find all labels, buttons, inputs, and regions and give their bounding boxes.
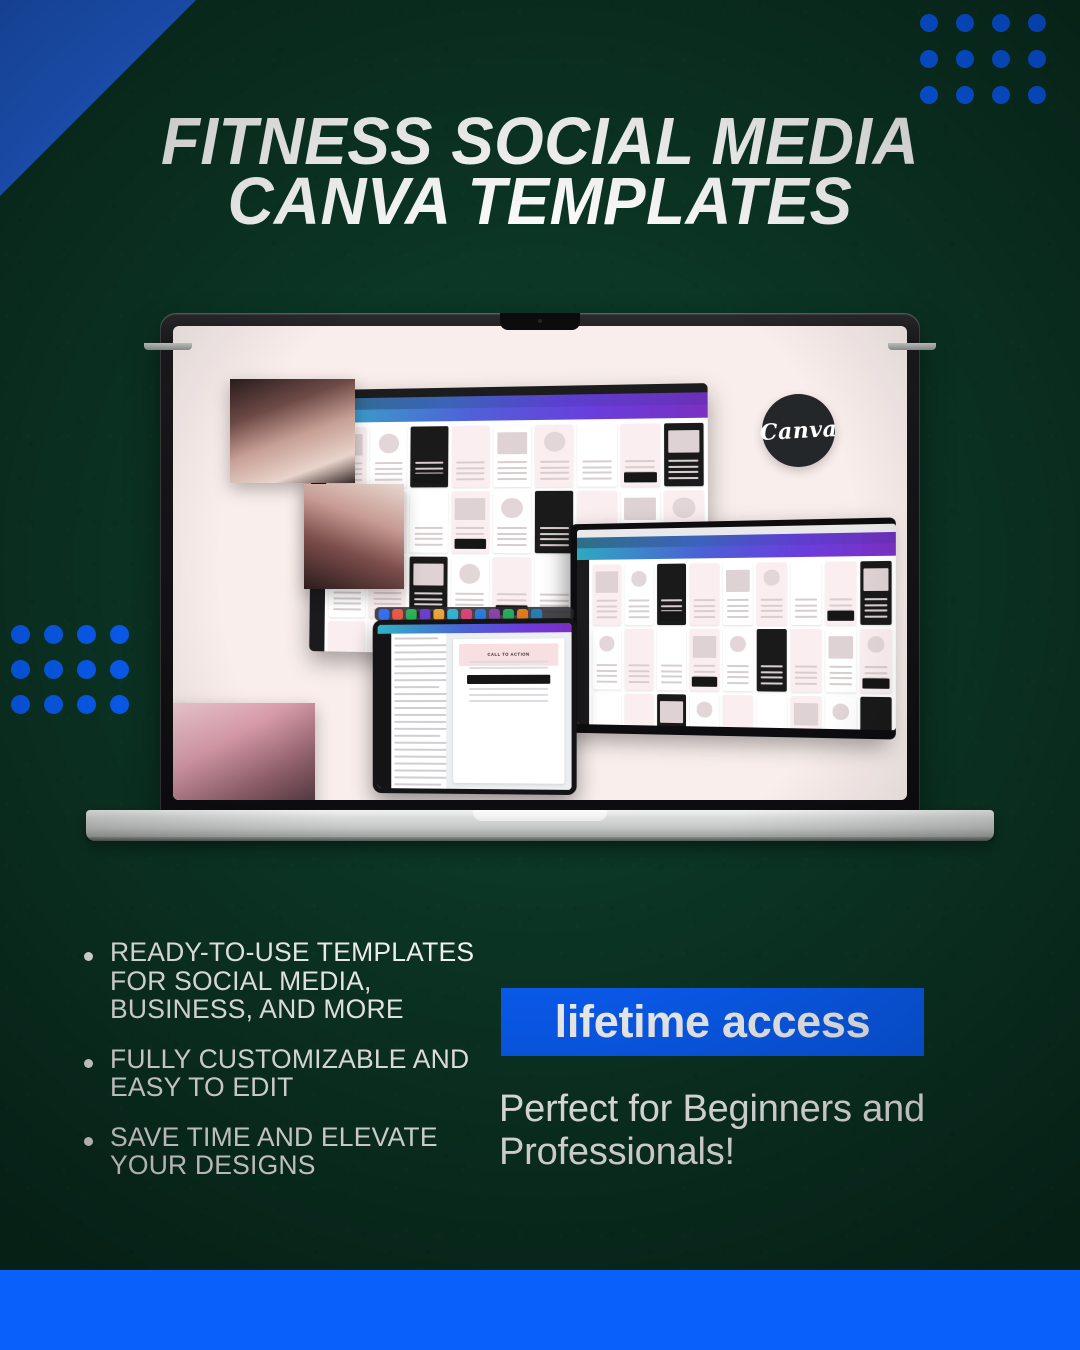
template-card	[690, 695, 719, 731]
laptop-base	[86, 810, 994, 841]
card-photo-circle	[631, 571, 647, 586]
dock-app-icon	[392, 609, 403, 620]
dock-app-icon	[447, 609, 458, 620]
template-card	[791, 629, 821, 692]
template-card	[410, 491, 448, 552]
card-text-line	[455, 598, 484, 600]
font-list-row	[394, 762, 447, 764]
card-text-line	[540, 544, 569, 546]
card-button	[863, 679, 889, 690]
decor-dot	[992, 86, 1010, 104]
dock-app-icon	[406, 609, 417, 620]
card-photo-circle	[730, 636, 747, 652]
card-text-line	[760, 682, 783, 684]
card-text-line	[628, 610, 650, 612]
decor-dot	[11, 625, 30, 644]
card-text-line	[864, 604, 888, 606]
card-text-line	[497, 527, 526, 529]
decor-dot	[956, 50, 974, 68]
card-text-line	[497, 599, 526, 601]
template-card	[370, 427, 407, 488]
template-card	[791, 696, 821, 730]
card-text-line	[596, 600, 617, 602]
card-text-line	[582, 477, 612, 479]
tablet-body: CALL TO ACTION	[378, 632, 572, 790]
template-card	[860, 561, 891, 625]
decor-dot	[11, 660, 30, 679]
template-card	[593, 629, 621, 690]
card-photo-circle	[673, 498, 695, 518]
card-photo-circle	[599, 636, 615, 651]
font-list-row	[394, 783, 441, 785]
card-text-line	[333, 597, 361, 599]
template-card	[825, 561, 856, 625]
template-card	[657, 694, 686, 730]
card-text-line	[794, 671, 817, 673]
card-text-line	[829, 666, 852, 668]
card-text-line	[727, 682, 750, 684]
card-text-line	[693, 610, 715, 612]
card-text-line	[864, 610, 888, 612]
card-text-line	[540, 472, 569, 474]
card-text-line	[829, 683, 852, 685]
card-text-line	[794, 610, 817, 612]
card-text-line	[727, 610, 750, 612]
dock-app-icon	[379, 609, 390, 620]
card-text-line	[596, 680, 617, 682]
bullet-dot-icon	[84, 952, 93, 961]
card-text-line	[661, 605, 683, 607]
card-text-line	[498, 467, 527, 469]
laptop-foot-right	[888, 343, 936, 350]
decor-dot	[956, 86, 974, 104]
poster-canvas: FITNESS SOCIAL MEDIA CANVA TEMPLATES	[0, 0, 1080, 1350]
mockup-flyer-service-guide: VICE A NG GU siness Name H Lorem ipsum d…	[173, 703, 315, 800]
bottom-accent-bar	[0, 1270, 1080, 1350]
card-text-line	[456, 527, 485, 529]
card-photo	[660, 701, 683, 722]
template-card	[657, 629, 686, 690]
card-text-line	[864, 672, 888, 674]
card-text-line	[760, 599, 783, 601]
card-text-line	[727, 604, 750, 606]
template-card	[625, 629, 654, 690]
laptop-foot-left	[144, 343, 192, 350]
dock-app-icon	[420, 609, 431, 620]
template-card	[593, 693, 621, 730]
card-text-line	[794, 604, 817, 606]
canva-sidebar-rail-2	[577, 560, 589, 724]
card-photo	[624, 498, 656, 519]
card-text-line	[582, 472, 612, 474]
card-text-line	[596, 611, 617, 613]
card-text-line	[628, 675, 650, 677]
card-button	[414, 474, 445, 484]
dock-app-icon	[433, 609, 444, 620]
card-text-line	[727, 676, 750, 678]
card-text-line	[760, 676, 783, 678]
card-photo-circle	[459, 564, 480, 584]
card-text-line	[727, 665, 750, 667]
card-button	[828, 611, 854, 621]
card-text-line	[373, 603, 401, 605]
card-text-line	[333, 602, 361, 604]
card-text-line	[540, 533, 569, 535]
template-card	[657, 564, 686, 626]
card-photo	[668, 430, 700, 452]
template-card	[578, 424, 617, 487]
laptop-window-body	[577, 556, 896, 731]
card-text-line	[596, 605, 617, 607]
template-card	[328, 621, 365, 659]
card-text-line	[760, 610, 783, 612]
decor-dot	[44, 660, 63, 679]
template-card	[825, 629, 856, 693]
tablet-sidebar-rail	[378, 634, 392, 789]
card-text-line	[456, 478, 485, 480]
card-text-line	[864, 598, 888, 600]
flyer-photo	[173, 703, 315, 800]
card-photo-circle	[544, 432, 566, 452]
font-list-row	[394, 665, 445, 667]
lifetime-access-label: lifetime access	[555, 996, 871, 1048]
lifetime-access-badge: lifetime access	[501, 988, 924, 1056]
card-photo-circle	[763, 570, 780, 586]
bullet-dot-icon	[84, 1059, 93, 1068]
card-text-line	[373, 592, 401, 594]
card-button	[454, 539, 486, 549]
feature-list-item-label: READY-TO-USE TEMPLATES FOR SOCIAL MEDIA,…	[110, 938, 504, 1024]
template-card	[825, 696, 856, 730]
card-text-line	[628, 681, 650, 683]
card-text-line	[628, 616, 650, 618]
decor-dot	[44, 695, 63, 714]
template-card	[664, 423, 704, 487]
card-text-line	[628, 729, 650, 730]
laptop-mockup: VICE A NG GU siness Name H Lorem ipsum d…	[86, 313, 994, 858]
font-list-row	[394, 742, 453, 744]
design-line-2	[469, 667, 548, 669]
decor-dot	[920, 50, 938, 68]
tablet-screen: CALL TO ACTION	[378, 623, 572, 790]
decor-dot	[11, 695, 30, 714]
template-card	[535, 491, 574, 554]
card-photo	[828, 637, 853, 659]
dot-grid-top-right	[920, 14, 1064, 122]
page-title: FITNESS SOCIAL MEDIA CANVA TEMPLATES	[27, 112, 1053, 232]
card-photo	[693, 636, 716, 657]
card-text-line	[794, 615, 817, 617]
card-text-line	[582, 466, 612, 468]
card-text-line	[669, 460, 699, 462]
template-card	[451, 491, 489, 553]
card-photo	[863, 569, 888, 591]
card-text-line	[415, 462, 443, 464]
card-text-line	[332, 656, 360, 658]
card-photo	[455, 499, 485, 520]
card-photo-circle	[867, 637, 885, 653]
design-title: CALL TO ACTION	[459, 651, 558, 657]
card-text-line	[760, 616, 783, 618]
font-list-row	[394, 735, 440, 737]
card-text-line	[794, 677, 817, 679]
template-card	[625, 564, 654, 625]
template-card	[535, 425, 574, 487]
font-list-row	[394, 637, 438, 639]
card-text-line	[693, 605, 715, 607]
card-text-line	[414, 603, 442, 605]
card-photo	[596, 572, 619, 593]
feature-list-item-label: FULLY CUSTOMIZABLE AND EASY TO EDIT	[110, 1045, 504, 1102]
laptop-screen: VICE A NG GU siness Name H Lorem ipsum d…	[173, 326, 907, 800]
font-list-row	[394, 686, 439, 688]
card-text-line	[628, 599, 650, 601]
card-text-line	[497, 538, 526, 540]
decor-dot	[1028, 86, 1046, 104]
template-card	[452, 426, 490, 488]
template-card	[620, 423, 659, 486]
card-text-line	[540, 461, 569, 463]
card-text-line	[498, 478, 527, 480]
offer-tagline: Perfect for Beginners and Professionals!	[499, 1088, 969, 1174]
card-text-line	[333, 591, 361, 593]
design-line-3	[469, 688, 548, 690]
card-text-line	[415, 532, 443, 534]
feature-list-item-label: SAVE TIME AND ELEVATE YOUR DESIGNS	[110, 1123, 504, 1180]
template-card	[690, 629, 719, 691]
card-photo	[794, 703, 818, 725]
card-text-line	[661, 730, 683, 731]
decor-dot	[956, 14, 974, 32]
template-card	[791, 562, 821, 625]
card-photo	[497, 433, 527, 454]
card-text-line	[693, 670, 715, 672]
card-text-line	[596, 669, 617, 671]
laptop-window-inner	[577, 524, 896, 731]
title-line-1: FITNESS SOCIAL MEDIA	[27, 112, 1053, 172]
card-text-line	[455, 604, 484, 606]
font-list-row	[394, 693, 452, 695]
dock-app-icon	[461, 609, 472, 620]
card-photo-circle	[501, 498, 522, 518]
laptop-lid: VICE A NG GU siness Name H Lorem ipsum d…	[160, 313, 920, 813]
card-text-line	[373, 597, 401, 599]
card-text-line	[375, 467, 403, 469]
card-photo	[414, 564, 444, 585]
card-button	[624, 472, 657, 482]
mockup-tablet: CALL TO ACTION	[373, 618, 577, 795]
card-text-line	[829, 677, 852, 679]
template-card	[593, 564, 621, 625]
design-line-1	[469, 661, 548, 663]
card-text-line	[661, 675, 683, 677]
card-text-line	[864, 615, 888, 617]
mockup-photo-2	[304, 484, 404, 589]
template-card	[723, 629, 753, 691]
card-text-line	[596, 664, 617, 666]
tablet-design-page: CALL TO ACTION	[453, 638, 564, 784]
card-text-line	[794, 665, 817, 667]
card-text-line	[628, 664, 650, 666]
card-text-line	[760, 604, 783, 606]
card-text-line	[375, 462, 403, 464]
canva-logo-badge: Canva	[762, 394, 835, 467]
card-text-line	[864, 666, 888, 668]
card-text-line	[333, 608, 361, 610]
card-text-line	[661, 670, 683, 672]
feature-list: READY-TO-USE TEMPLATES FOR SOCIAL MEDIA,…	[84, 938, 504, 1201]
card-text-line	[539, 593, 568, 595]
decor-dot	[44, 625, 63, 644]
tablet-canvas: CALL TO ACTION	[446, 632, 571, 790]
card-text-line	[414, 592, 442, 594]
card-text-line	[539, 599, 568, 601]
card-text-line	[415, 467, 443, 469]
template-card	[690, 563, 719, 625]
bullet-dot-icon	[84, 1137, 93, 1146]
decor-dot	[920, 86, 938, 104]
template-card	[723, 695, 753, 730]
card-text-line	[540, 466, 569, 468]
card-text-line	[456, 461, 485, 463]
card-text-line	[498, 472, 527, 474]
mockup-laptop-window	[571, 517, 896, 739]
card-text-line	[669, 477, 699, 479]
card-text-line	[497, 533, 526, 535]
card-text-line	[456, 467, 485, 469]
card-text-line	[375, 473, 403, 475]
card-text-line	[727, 616, 750, 618]
card-text-line	[415, 527, 443, 529]
template-card	[723, 563, 753, 625]
card-photo-circle	[696, 702, 712, 718]
card-text-line	[497, 544, 526, 546]
card-text-line	[625, 466, 655, 468]
decor-dot	[920, 14, 938, 32]
card-text-line	[829, 598, 852, 600]
card-text-line	[661, 599, 683, 601]
laptop-notch	[500, 313, 580, 330]
design-line-4	[469, 694, 548, 696]
font-list-panel	[391, 633, 446, 789]
card-text-line	[540, 527, 569, 529]
template-card	[757, 562, 787, 625]
mockup-photo-1	[230, 379, 355, 483]
card-text-line	[829, 604, 852, 606]
template-card	[493, 425, 531, 487]
font-list-row	[394, 644, 451, 646]
card-photo-circle	[378, 434, 399, 454]
template-card	[625, 694, 654, 731]
decor-dot	[992, 50, 1010, 68]
design-cta-button	[467, 675, 550, 684]
card-text-line	[374, 478, 402, 480]
design-line-5	[469, 700, 548, 702]
dock-app-icon	[475, 608, 486, 619]
feature-list-item: SAVE TIME AND ELEVATE YOUR DESIGNS	[84, 1123, 504, 1180]
card-button	[692, 677, 717, 687]
card-photo	[726, 570, 750, 591]
card-text-line	[693, 599, 715, 601]
card-text-line	[456, 532, 485, 534]
card-text-line	[540, 538, 569, 540]
card-text-line	[794, 682, 817, 684]
card-text-line	[415, 543, 443, 545]
card-text-line	[669, 471, 699, 473]
title-line-2: CANVA TEMPLATES	[27, 172, 1053, 232]
canva-wordmark: Canva	[759, 415, 838, 445]
card-text-line	[628, 605, 650, 607]
card-text-line	[455, 593, 484, 595]
card-button	[659, 611, 683, 621]
card-text-line	[693, 616, 715, 618]
card-text-line	[415, 538, 443, 540]
feature-list-item: FULLY CUSTOMIZABLE AND EASY TO EDIT	[84, 1045, 504, 1102]
feature-list-item: READY-TO-USE TEMPLATES FOR SOCIAL MEDIA,…	[84, 938, 504, 1024]
template-card	[860, 629, 891, 693]
card-text-line	[628, 670, 650, 672]
laptop-base-edge	[86, 837, 994, 841]
template-card	[493, 491, 531, 553]
template-card	[411, 426, 449, 487]
card-text-line	[727, 671, 750, 673]
card-text-line	[669, 465, 699, 467]
card-text-line	[498, 461, 527, 463]
template-card	[860, 697, 891, 731]
card-text-line	[794, 598, 817, 600]
card-text-line	[456, 472, 485, 474]
card-text-line	[497, 593, 526, 595]
card-text-line	[829, 671, 852, 673]
template-card	[757, 629, 787, 692]
card-photo-circle	[832, 704, 849, 720]
decor-dot	[992, 14, 1010, 32]
card-text-line	[661, 681, 683, 683]
card-text-line	[596, 616, 617, 618]
template-card	[757, 695, 787, 730]
card-text-line	[582, 460, 612, 462]
card-text-line	[760, 665, 783, 667]
font-list-row	[394, 714, 446, 716]
card-text-line	[661, 664, 683, 666]
card-text-line	[540, 477, 569, 479]
template-grid-2	[589, 556, 896, 731]
card-text-line	[596, 728, 617, 730]
card-text-line	[727, 599, 750, 601]
decor-dot	[1028, 50, 1046, 68]
card-text-line	[693, 665, 715, 667]
card-text-line	[625, 460, 655, 462]
card-text-line	[414, 598, 442, 600]
decor-dot	[1028, 14, 1046, 32]
card-text-line	[596, 675, 617, 677]
card-text-line	[760, 671, 783, 673]
